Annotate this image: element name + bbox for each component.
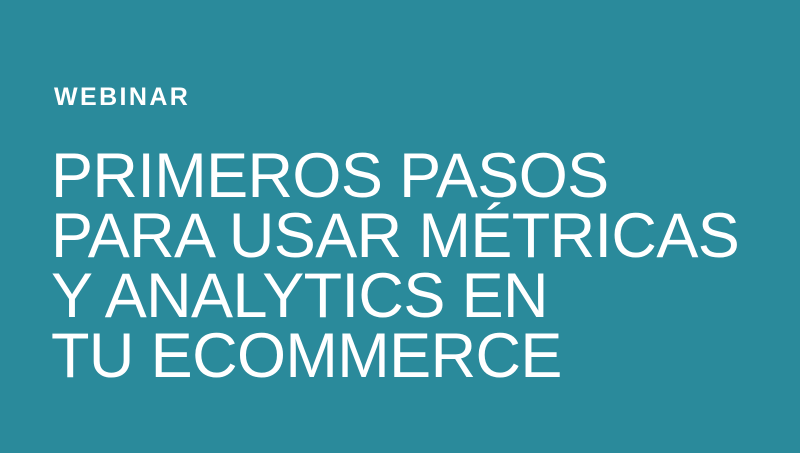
eyebrow-label: WEBINAR: [54, 82, 190, 112]
page-title: PRIMEROS PASOS PARA USAR MÉTRICAS Y ANAL…: [51, 146, 739, 386]
headline-line-3: Y ANALYTICS EN: [51, 266, 739, 326]
headline-line-2: PARA USAR MÉTRICAS: [51, 206, 739, 266]
headline-line-1: PRIMEROS PASOS: [51, 146, 739, 206]
headline-line-4: TU ECOMMERCE: [51, 326, 739, 386]
webinar-banner: WEBINAR PRIMEROS PASOS PARA USAR MÉTRICA…: [0, 0, 800, 453]
